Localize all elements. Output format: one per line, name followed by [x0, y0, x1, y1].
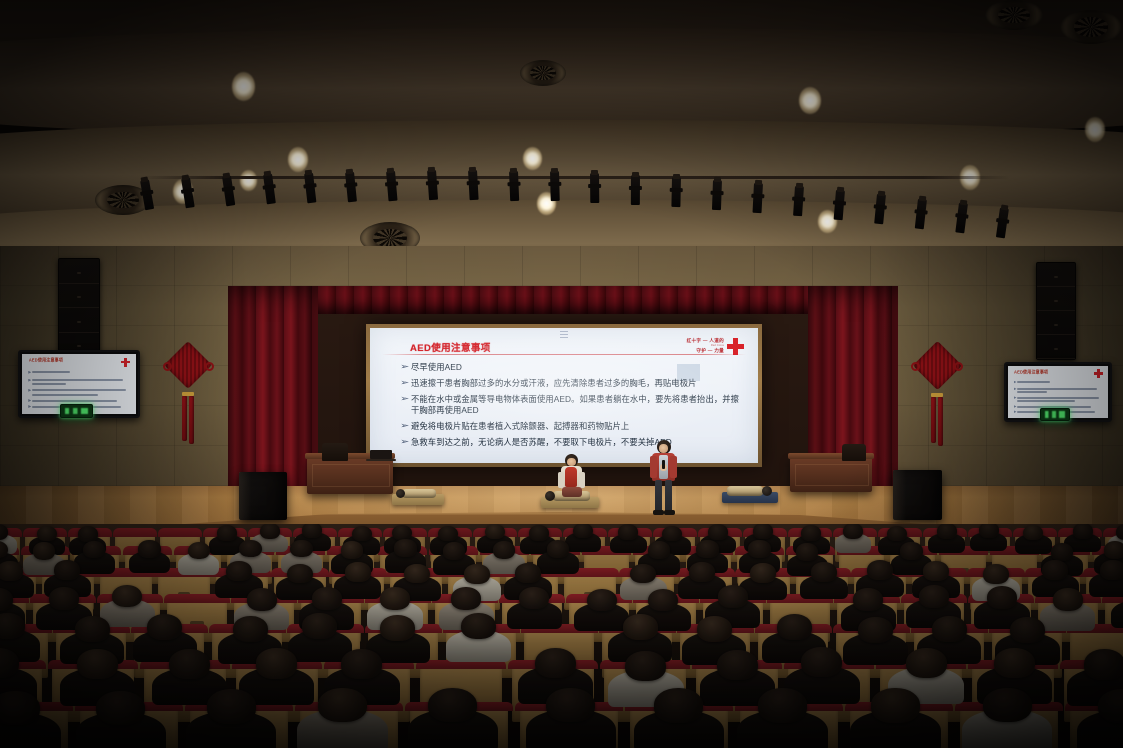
audience-member-head: [871, 688, 920, 722]
ceiling-downlight: [288, 147, 308, 172]
projection-screen[interactable]: AED使用注意事项 红十字 — 人道的 Red Cross 守护 — 力量 ➢ …: [370, 328, 758, 463]
stage-spotlight: [631, 175, 640, 205]
cpr-manikin-right-body: [727, 486, 763, 496]
projection-screen-frame: AED使用注意事项 红十字 — 人道的 Red Cross 守护 — 力量 ➢ …: [366, 324, 762, 467]
audience-member-head: [697, 616, 732, 642]
audience-member-head: [623, 614, 658, 640]
audience-member-head: [515, 563, 541, 583]
exit-sign-left: [60, 404, 93, 418]
audience-member-head: [1100, 560, 1123, 580]
chair-right: [842, 444, 866, 461]
audience-member-head: [207, 689, 256, 723]
stage-spotlight: [590, 173, 599, 203]
audience-member-head: [648, 541, 671, 559]
audience-member-head: [49, 587, 79, 610]
stage-subwoofer-left: [239, 472, 287, 520]
audience-member-head: [341, 649, 382, 679]
laptop-left: [370, 450, 392, 459]
ceiling-downlight: [799, 87, 821, 114]
audience-member-head: [493, 541, 516, 559]
audience-member-head: [75, 616, 110, 642]
audience-member-head: [438, 526, 458, 542]
bullet-text: 迅速擦干患者胸部过多的水分或汗液，应先清除患者过多的胸毛，再贴电极片: [411, 378, 697, 389]
audience-member-head: [796, 543, 819, 561]
audience-member-head: [0, 561, 23, 581]
audience-member-head: [853, 588, 883, 611]
cpr-manikin-left-head: [396, 489, 405, 498]
knot-tassel: [931, 397, 936, 443]
audience-member-head: [519, 587, 549, 610]
audience-member-head: [923, 561, 949, 581]
audience-member-head: [169, 649, 210, 679]
presenter-kneeling-legs: [562, 487, 582, 497]
audience-member-head: [718, 585, 748, 608]
bullet-arrow-icon: ➢: [400, 421, 415, 432]
bullet-text: 尽早使用AED: [411, 362, 462, 373]
presenter-standing-shoe-left: [653, 510, 664, 515]
podium-left: [307, 458, 393, 494]
audience-member-head: [654, 688, 703, 722]
bullet-arrow-icon: ➢: [400, 394, 415, 416]
presenter-standing-face: [659, 444, 668, 453]
audience-member-head: [217, 525, 237, 541]
audience-member-head: [546, 688, 595, 722]
audience-member-head: [1010, 617, 1045, 643]
audience-member-head: [979, 524, 999, 538]
bullet-arrow-icon: ➢: [400, 437, 415, 448]
audience-member-head: [919, 585, 949, 608]
presenter-kneeling-vest: [565, 467, 577, 487]
red-cross-icon: [727, 338, 744, 355]
audience-member-head: [987, 586, 1017, 609]
ceiling-air-vent: [520, 60, 566, 86]
audience-member-head: [233, 616, 268, 642]
audience-member-head: [983, 564, 1009, 584]
audience-member-head: [380, 587, 410, 610]
audience-member-head: [1116, 524, 1123, 540]
audience-member-head: [83, 541, 106, 559]
audience-member-head: [983, 688, 1032, 722]
audience-member-head: [1104, 541, 1123, 559]
presenter-kneeling-arm: [558, 472, 564, 488]
presenter-standing-arm-left: [650, 456, 657, 478]
slide-title: AED使用注意事项: [410, 340, 491, 354]
mini-red-cross-logo-left: [105, 357, 130, 364]
audience-member-head: [352, 526, 372, 542]
audience-member-head: [648, 589, 678, 612]
audience-member-head: [777, 614, 812, 640]
bullet-text: 不能在水中或金属等导电物体表面使用AED。如果患者躺在水中，要先将患者抬出，并擦…: [411, 394, 744, 416]
audience-member-head: [708, 524, 728, 540]
knot-loop: [205, 362, 214, 371]
chair-left: [322, 443, 348, 461]
ceiling-downlight: [523, 147, 542, 170]
podium-right: [790, 458, 872, 492]
presenter-standing-shoe-right: [664, 510, 675, 515]
stage-curtain-left: [228, 286, 318, 501]
stage-spotlight: [712, 179, 722, 209]
audience-member-head: [78, 526, 98, 542]
presenter-standing-arm-right: [670, 456, 677, 478]
audience-member-head: [428, 688, 477, 722]
audience-member-head: [662, 526, 682, 542]
stage-spotlight: [753, 183, 763, 213]
audience-member-head: [247, 588, 277, 611]
exit-sign-right: [1040, 408, 1070, 421]
audience-member-head: [341, 541, 364, 559]
audience-member-head: [843, 524, 863, 539]
stage-subwoofer-right: [893, 470, 942, 520]
knot-loop: [163, 362, 172, 371]
audience-member-head: [260, 524, 280, 539]
stage-light-truss: [140, 176, 1010, 186]
knot-loop: [954, 362, 963, 371]
audience-member-head: [312, 587, 342, 610]
audience-member-head: [801, 525, 821, 541]
presenter-kneeling-arm: [579, 472, 585, 488]
line-array-speaker-left: [58, 258, 100, 358]
red-cross-icon: [121, 358, 130, 367]
audience-member-head: [443, 542, 466, 560]
audience-member-head: [318, 688, 367, 722]
presenter-standing: [647, 440, 679, 518]
slide-bullet-list: ➢ 尽早使用AED ➢ 迅速擦干患者胸部过多的水分或汗液，应先清除患者过多的胸毛…: [400, 362, 744, 453]
red-cross-logo: 红十字 — 人道的 Red Cross 守护 — 力量: [658, 337, 744, 357]
stage-spotlight: [468, 170, 479, 200]
audience-member-head: [394, 539, 417, 557]
audience-member-head: [587, 589, 617, 612]
audience-member-head: [811, 562, 837, 582]
audience-member-head: [461, 613, 496, 639]
bullet-text: 避免将电极片贴在患者植入式除颤器、起搏器和药物贴片上: [411, 421, 629, 432]
audience-member-head: [1084, 649, 1123, 679]
audience-member-head: [451, 587, 481, 610]
audience-member-head: [625, 651, 666, 681]
stage-spotlight: [509, 170, 519, 200]
line-array-speaker-right: [1036, 262, 1076, 360]
slide-bullet-item: ➢ 不能在水中或金属等导电物体表面使用AED。如果患者躺在水中，要先将患者抬出，…: [400, 394, 744, 416]
audience-member-head: [858, 617, 893, 643]
audience-member-head: [748, 540, 771, 558]
audience-member-head: [529, 525, 549, 541]
bullet-arrow-icon: ➢: [400, 378, 415, 389]
audience-member-head: [464, 564, 490, 584]
audience-member-head: [77, 649, 118, 679]
audience-member-head: [1073, 524, 1093, 539]
audience-member-head: [900, 542, 923, 560]
audience-member-head: [717, 650, 758, 680]
slide-bullet-item: ➢ 迅速擦干患者胸部过多的水分或汗液，应先清除患者过多的胸毛，再贴电极片: [400, 378, 744, 389]
audience-member-head: [1042, 560, 1068, 580]
audience-member-head: [1051, 543, 1074, 561]
audience-member-head: [392, 525, 412, 541]
cpr-manikin-right-head: [762, 486, 772, 496]
audience-member-head: [547, 540, 570, 558]
mini-slide-title-left: AED使用注意事项: [29, 357, 63, 364]
microphone-icon: [662, 460, 665, 469]
stage-spotlight: [427, 170, 438, 201]
audience-member-head: [801, 647, 842, 677]
ceiling-air-vent: [985, 0, 1043, 30]
audience-member-head: [994, 648, 1035, 678]
audience-member-head: [138, 540, 161, 558]
presenter-standing-leg-right: [665, 480, 672, 512]
audience-member-head: [290, 540, 313, 558]
presenter-kneeling-face: [567, 458, 576, 466]
audience-member-head: [96, 691, 145, 725]
ceiling-downlight: [1085, 117, 1105, 142]
audience-member-head: [112, 585, 142, 608]
auditorium-photo: AED使用注意事项 AED使用注意事项: [0, 0, 1123, 748]
slide-bullet-item: ➢ 急救车到达之前，无论病人是否苏醒，不要取下电极片，不要关掉AED: [400, 437, 744, 448]
audience-member-head: [0, 691, 40, 725]
audience-member-head: [147, 614, 182, 640]
audience-member-head: [287, 564, 313, 584]
chinese-knot-right: [908, 344, 966, 450]
slide-bullet-item: ➢ 避免将电极片贴在患者植入式除颤器、起搏器和药物贴片上: [400, 421, 744, 432]
mini-slide-title-right: AED使用注意事项: [1014, 369, 1048, 376]
chinese-knot-left: [160, 344, 216, 448]
audience-member-head: [256, 648, 297, 678]
audience-member-head: [33, 542, 56, 560]
audience-member-head: [573, 524, 593, 538]
audience-member-head: [750, 563, 776, 583]
audience-member-head: [188, 542, 211, 560]
ceiling-air-vent: [1060, 10, 1122, 44]
audience-member-head: [689, 562, 715, 582]
audience-member-head: [1023, 525, 1043, 541]
knot-tassel: [182, 396, 187, 441]
cpr-manikin-left-body: [402, 489, 436, 498]
audience-member-head: [696, 540, 719, 558]
stage-spotlight: [672, 177, 682, 207]
audience-member-head: [380, 615, 415, 641]
audience-member-head: [753, 524, 773, 539]
audience-member-head: [485, 524, 505, 539]
audience-member-head: [618, 524, 638, 540]
audience-member-head: [1053, 588, 1083, 611]
ceiling-downlight: [232, 72, 255, 101]
audience-member-head: [937, 524, 957, 539]
red-cross-icon: [1094, 369, 1103, 378]
audience-member-head: [226, 561, 252, 581]
audience-member-head: [630, 564, 656, 584]
slide-bullet-item: ➢ 尽早使用AED: [400, 362, 744, 373]
audience-member-head: [345, 562, 371, 582]
audience-member-head: [54, 560, 80, 580]
audience-member-head: [302, 524, 322, 538]
audience-member-head: [404, 564, 430, 584]
knot-tassel: [938, 397, 943, 446]
audience-member-head: [239, 540, 262, 558]
audience-member-head: [758, 688, 807, 722]
audience-seating-area: [0, 524, 1123, 748]
audience-member-head: [37, 526, 57, 542]
audience-member-head: [887, 526, 907, 542]
audience-member-head: [302, 613, 337, 639]
knot-tassel: [189, 396, 194, 444]
mini-red-cross-logo-right: [1081, 369, 1103, 375]
logo-line-mid: Red Cross: [711, 344, 724, 347]
bullet-arrow-icon: ➢: [400, 362, 415, 373]
curtain-valance: [228, 286, 898, 314]
audience-member-head: [932, 616, 967, 642]
knot-loop: [911, 362, 920, 371]
presenter-standing-leg-left: [655, 480, 662, 512]
slide-top-notch: [560, 331, 568, 338]
audience-member-head: [867, 560, 893, 580]
presenter-kneeling: [556, 454, 586, 500]
audience-member-head: [906, 648, 947, 678]
bullet-text: 急救车到达之前，无论病人是否苏醒，不要取下电极片，不要关掉AED: [411, 437, 672, 448]
audience-member-head: [535, 648, 576, 678]
stage-spotlight: [550, 171, 560, 201]
logo-line-bottom: 守护 — 力量: [696, 348, 724, 354]
cpr-manikin-center-head: [545, 491, 555, 501]
